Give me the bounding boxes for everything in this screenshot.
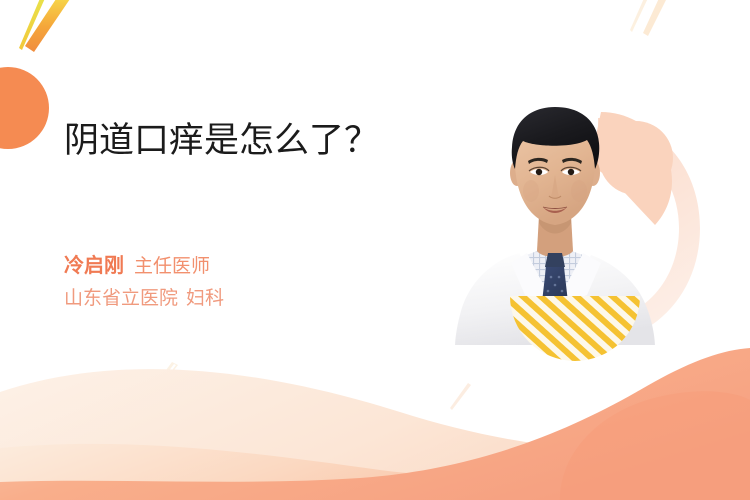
doctor-article-cover: 阴道口痒是怎么了？ 冷启刚主任医师 山东省立医院妇科 — [0, 0, 750, 500]
page-title: 阴道口痒是怎么了？ — [64, 120, 394, 162]
department-name: 妇科 — [186, 287, 224, 309]
hospital-name: 山东省立医院 — [64, 287, 178, 309]
credit-row-hospital: 山东省立医院妇科 — [64, 283, 404, 315]
doctor-name: 冷启刚 — [64, 253, 124, 277]
striped-semicircle-icon — [500, 296, 650, 362]
doctor-title: 主任医师 — [134, 255, 210, 277]
headline-text: 阴道口痒是怎么了？ — [64, 120, 394, 162]
credit-row-name: 冷启刚主任医师 — [64, 250, 404, 283]
tie-knot — [545, 253, 565, 267]
doctor-credit: 冷启刚主任医师 山东省立医院妇科 — [64, 250, 404, 315]
